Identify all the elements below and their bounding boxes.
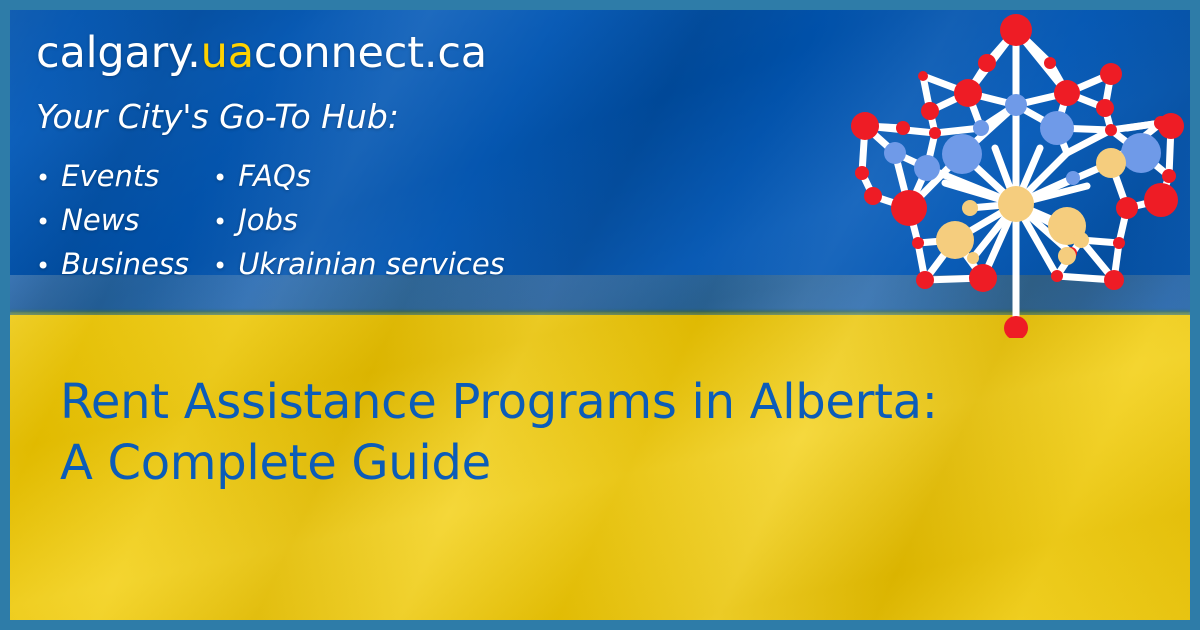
bullet-marker: • bbox=[213, 245, 227, 287]
bullet-marker: • bbox=[213, 201, 227, 243]
page-title-line-2: A Complete Guide bbox=[60, 433, 1130, 494]
bullet-marker: • bbox=[213, 157, 227, 199]
bullet-marker: • bbox=[36, 201, 50, 243]
bullet-label: News bbox=[61, 199, 139, 241]
list-item: •Events bbox=[36, 155, 189, 199]
bullet-marker: • bbox=[36, 157, 50, 199]
bullet-label: Jobs bbox=[238, 199, 298, 241]
page-title-line-1: Rent Assistance Programs in Alberta: bbox=[60, 374, 938, 430]
list-item: •FAQs bbox=[213, 155, 505, 199]
brand-prefix: calgary. bbox=[36, 28, 201, 78]
bullet-label: Business bbox=[61, 243, 189, 285]
feature-bullets: •Events •News •Business •FAQs •Jobs •Ukr… bbox=[36, 155, 505, 287]
tagline: Your City's Go-To Hub: bbox=[36, 100, 399, 133]
list-item: •Jobs bbox=[213, 199, 505, 243]
bullet-marker: • bbox=[36, 245, 50, 287]
bullet-column-left: •Events •News •Business bbox=[36, 155, 189, 287]
brand-accent: ua bbox=[201, 28, 254, 78]
list-item: •Business bbox=[36, 243, 189, 287]
bullet-label: Events bbox=[61, 155, 159, 197]
ukraine-flag-background: calgary.uaconnect.ca Your City's Go-To H… bbox=[10, 10, 1190, 620]
bullet-label: FAQs bbox=[238, 155, 311, 197]
brand-suffix: connect.ca bbox=[254, 28, 487, 78]
site-brand: calgary.uaconnect.ca bbox=[36, 32, 487, 75]
list-item: •News bbox=[36, 199, 189, 243]
bullet-label: Ukrainian services bbox=[238, 243, 505, 285]
page-title: Rent Assistance Programs in Alberta: A C… bbox=[60, 372, 1130, 495]
list-item: •Ukrainian services bbox=[213, 243, 505, 287]
bullet-column-right: •FAQs •Jobs •Ukrainian services bbox=[213, 155, 505, 287]
poster-canvas: calgary.uaconnect.ca Your City's Go-To H… bbox=[0, 0, 1200, 630]
maple-leaf-network-icon bbox=[835, 10, 1190, 338]
